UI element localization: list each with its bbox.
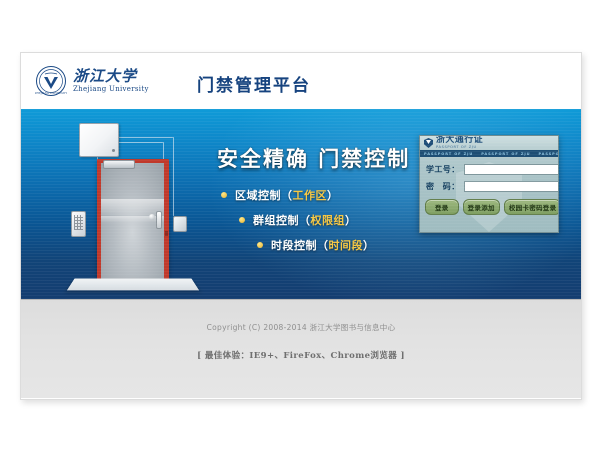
bullet-dot-icon xyxy=(239,217,245,223)
username-input[interactable] xyxy=(464,164,559,175)
password-row: 密 码： xyxy=(426,181,552,192)
feature-highlight: 权限组 xyxy=(311,212,346,228)
keypad-keys xyxy=(74,215,83,230)
login-title-cn: 浙大通行证 xyxy=(436,136,483,145)
site-footer: Copyright (C) 2008-2014 浙江大学图书与信息中心 [ 最佳… xyxy=(21,299,581,398)
browser-recommendation: [ 最佳体验：IE9+、FireFox、Chrome浏览器 ] xyxy=(21,333,581,361)
feature-item-area: 区域控制（ 工作区 ） xyxy=(221,187,375,203)
card-reader-icon xyxy=(173,216,187,232)
stripe-text: PASSPORT OF ZJU xyxy=(481,152,530,156)
feature-tail: ） xyxy=(363,237,375,253)
feature-list: 区域控制（ 工作区 ） 群组控制（ 权限组 ） 时段控制（ 时间段 ） xyxy=(221,187,375,262)
door-leaf xyxy=(101,163,164,283)
login-panel-header: 浙大通行证 PASSPORT OF ZJU xyxy=(420,136,558,150)
page-container: ZHEJIANG UNIVERSITY 浙江大学 Zhejiang Univer… xyxy=(20,52,582,400)
login-button[interactable]: 登录 xyxy=(425,199,459,215)
university-logo[interactable]: ZHEJIANG UNIVERSITY 浙江大学 Zhejiang Univer… xyxy=(35,65,149,97)
keypad-reader-icon xyxy=(71,211,86,237)
bullet-dot-icon xyxy=(257,242,263,248)
wire-segment xyxy=(117,142,163,143)
door-closer xyxy=(103,160,135,169)
feature-tail: ） xyxy=(345,212,357,228)
security-door-illustration xyxy=(49,115,209,295)
feature-highlight: 时间段 xyxy=(329,237,364,253)
bullet-dot-icon xyxy=(221,192,227,198)
login-panel-stripe: PASSPORT OF ZJU PASSPORT OF ZJU PASSPORT… xyxy=(420,150,558,157)
door-handle xyxy=(156,211,162,229)
feature-label: 群组控制（ xyxy=(253,212,311,228)
hero-banner: 安全精确 门禁控制 区域控制（ 工作区 ） 群组控制（ 权限组 ） 时段控制（ … xyxy=(21,109,581,299)
feature-highlight: 工作区 xyxy=(293,187,328,203)
feature-label: 区域控制（ xyxy=(235,187,293,203)
feature-tail: ） xyxy=(327,187,339,203)
site-header: ZHEJIANG UNIVERSITY 浙江大学 Zhejiang Univer… xyxy=(21,53,581,109)
security-door-icon xyxy=(97,159,169,283)
svg-text:ZHEJIANG UNIVERSITY: ZHEJIANG UNIVERSITY xyxy=(35,91,67,95)
card-password-login-button[interactable]: 校园卡密码登录 xyxy=(504,199,559,215)
stripe-text: PASSPORT OF ZJU xyxy=(538,152,558,156)
feature-item-group: 群组控制（ 权限组 ） xyxy=(239,212,375,228)
username-label: 学工号： xyxy=(426,164,464,175)
university-name: 浙江大学 Zhejiang University xyxy=(73,69,149,93)
login-form: 学工号： 密 码： xyxy=(420,157,558,192)
login-add-button[interactable]: 登录添加 xyxy=(463,199,500,215)
feature-item-time: 时段控制（ 时间段 ） xyxy=(257,237,375,253)
copyright-text: Copyright (C) 2008-2014 浙江大学图书与信息中心 xyxy=(21,300,581,333)
login-button-row: 登录 登录添加 校园卡密码登录 xyxy=(420,198,558,215)
shield-icon xyxy=(424,138,433,148)
username-row: 学工号： xyxy=(426,164,552,175)
access-controller-icon xyxy=(79,123,119,157)
banner-headline: 安全精确 门禁控制 xyxy=(217,143,410,173)
stripe-text: PASSPORT OF ZJU xyxy=(424,152,473,156)
password-input[interactable] xyxy=(464,181,559,192)
university-name-en: Zhejiang University xyxy=(73,86,149,93)
page-title: 门禁管理平台 xyxy=(197,71,311,96)
door-lock-indicator xyxy=(165,231,168,236)
controller-led xyxy=(112,149,115,152)
wire-segment xyxy=(117,137,173,138)
wire-segment xyxy=(173,137,174,216)
password-label: 密 码： xyxy=(426,181,464,192)
university-name-cn: 浙江大学 xyxy=(73,69,149,84)
login-panel: 浙大通行证 PASSPORT OF ZJU PASSPORT OF ZJU PA… xyxy=(419,135,559,233)
zju-seal-icon: ZHEJIANG UNIVERSITY xyxy=(35,65,67,97)
door-knob xyxy=(149,214,155,220)
floor-plane xyxy=(67,278,199,290)
feature-label: 时段控制（ xyxy=(271,237,329,253)
